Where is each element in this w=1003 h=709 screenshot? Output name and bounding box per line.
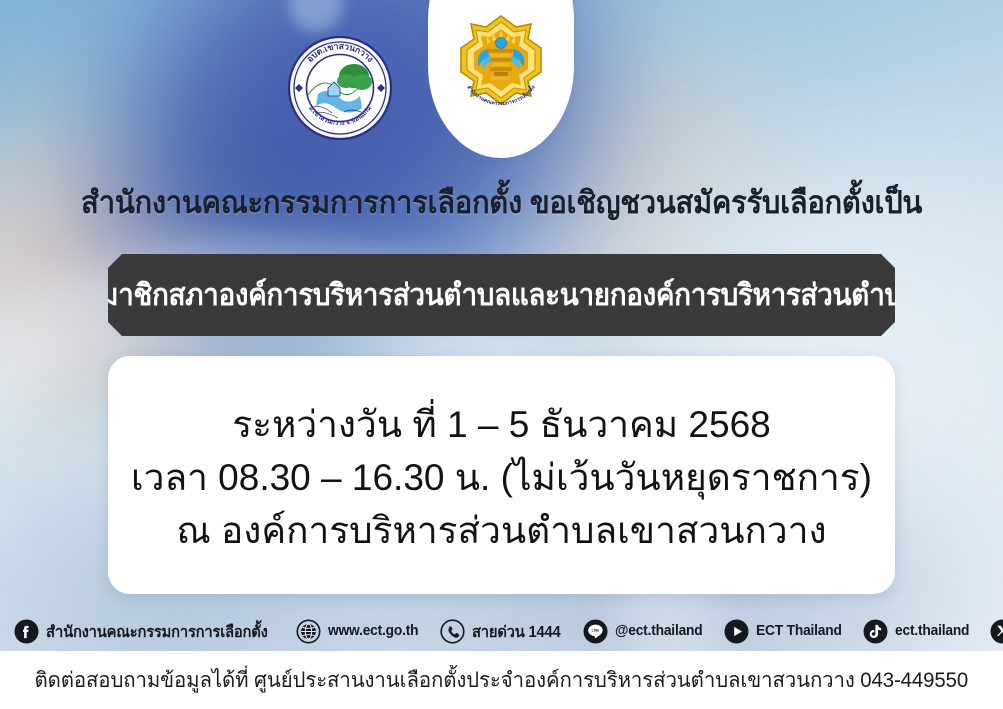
logo-row: สำนักงานคณะกรรมการการเลือกตั้ง: [0, 0, 1003, 180]
position-banner: สมาชิกสภาองค์การบริหารส่วนตำบลและนายกองค…: [108, 254, 895, 336]
x-twitter-icon[interactable]: [990, 619, 1003, 644]
youtube-icon[interactable]: [724, 619, 749, 644]
social-item-tiktok[interactable]: ect.thailand: [863, 619, 973, 644]
poster-root: สำนักงานคณะกรรมการการเลือกตั้ง: [0, 0, 1003, 709]
detail-line-hours: เวลา 08.30 – 16.30 น. (ไม่เว้นวันหยุดราช…: [131, 452, 872, 503]
tiktok-icon[interactable]: [863, 619, 888, 644]
contact-caption-strip: ติดต่อสอบถามข้อมูลได้ที่ ศูนย์ประสานงานเ…: [0, 651, 1003, 709]
social-label-youtube: ECT Thailand: [756, 623, 842, 639]
social-label-website: www.ect.go.th: [328, 623, 418, 639]
phone-icon[interactable]: [440, 619, 465, 644]
social-item-youtube[interactable]: ECT Thailand: [724, 619, 846, 644]
contact-caption-text: ติดต่อสอบถามข้อมูลได้ที่ ศูนย์ประสานงานเ…: [35, 664, 969, 697]
svg-text:LINE: LINE: [591, 628, 599, 632]
detail-line-location: ณ องค์การบริหารส่วนตำบลเขาสวนกวาง: [176, 505, 826, 556]
social-item-facebook[interactable]: สำนักงานคณะกรรมการการเลือกตั้ง: [14, 619, 279, 644]
facebook-icon[interactable]: [14, 619, 39, 644]
details-card: ระหว่างวัน ที่ 1 – 5 ธันวาคม 2568 เวลา 0…: [108, 356, 895, 594]
sao-khao-suan-kwang-seal: อบต.เขาสวนกวาง อ.เขาสวนกวาง จ.ขอนแก่น: [288, 36, 392, 140]
ect-thailand-emblem: สำนักงานคณะกรรมการการเลือกตั้ง: [446, 8, 556, 126]
line-icon[interactable]: LINE: [583, 619, 608, 644]
globe-icon[interactable]: [296, 619, 321, 644]
social-item-website[interactable]: www.ect.go.th: [296, 619, 423, 644]
position-banner-text: สมาชิกสภาองค์การบริหารส่วนตำบลและนายกองค…: [84, 272, 919, 319]
social-label-tiktok: ect.thailand: [895, 623, 969, 639]
social-label-line: @ect.thailand: [615, 623, 703, 639]
social-media-bar: สำนักงานคณะกรรมการการเลือกตั้ง www.ect.g…: [0, 612, 1003, 650]
social-item-x[interactable]: @EctThailand: [990, 619, 1003, 644]
social-label-hotline: สายด่วน 1444: [472, 619, 561, 644]
detail-line-dates: ระหว่างวัน ที่ 1 – 5 ธันวาคม 2568: [232, 399, 771, 450]
poster-headline: สำนักงานคณะกรรมการการเลือกตั้ง ขอเชิญชวน…: [30, 183, 973, 223]
social-label-facebook: สำนักงานคณะกรรมการการเลือกตั้ง: [46, 619, 268, 644]
social-item-line[interactable]: LINE @ect.thailand: [583, 619, 707, 644]
social-item-hotline[interactable]: สายด่วน 1444: [440, 619, 565, 644]
